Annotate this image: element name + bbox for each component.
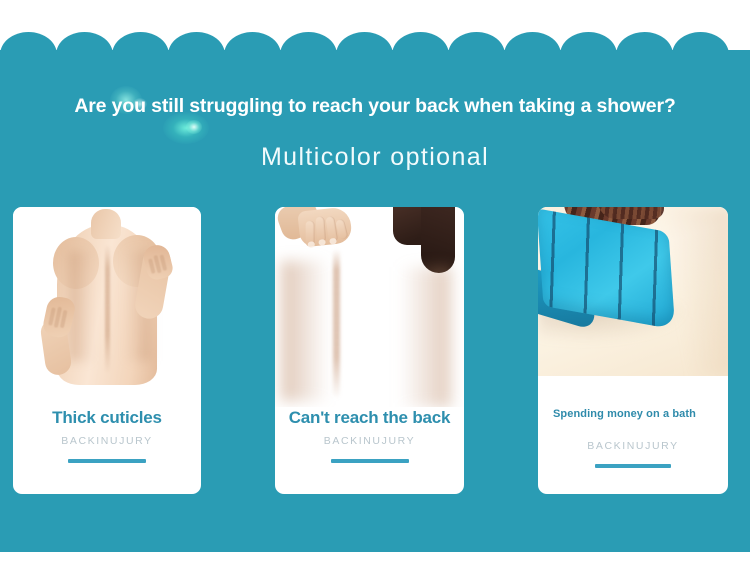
card-brand-label: BACKINUJURY bbox=[538, 440, 728, 452]
card-title: Spending money on a bath bbox=[538, 408, 728, 420]
fingernail-shape bbox=[318, 239, 326, 246]
subheadline-text: Multicolor optional bbox=[0, 143, 750, 172]
card-caption: Spending money on a bath BACKINUJURY bbox=[538, 402, 728, 494]
feature-card[interactable]: Thick cuticles BACKINUJURY bbox=[13, 207, 201, 494]
card-photo bbox=[275, 207, 464, 407]
card-underline-bar bbox=[331, 459, 409, 463]
body-shading-right bbox=[399, 267, 451, 407]
card-caption: Can't reach the back BACKINUJURY bbox=[275, 402, 464, 494]
hair-shape bbox=[421, 207, 455, 273]
feature-card[interactable]: Spending money on a bath BACKINUJURY bbox=[538, 207, 728, 494]
fingernail-shape bbox=[329, 238, 337, 245]
headline-text: Are you still struggling to reach your b… bbox=[0, 95, 750, 118]
card-title: Thick cuticles bbox=[13, 408, 201, 428]
hair-shape bbox=[598, 207, 664, 219]
spine-line bbox=[105, 245, 110, 373]
card-brand-label: BACKINUJURY bbox=[13, 435, 201, 447]
hand-over-shoulder-photo bbox=[275, 207, 464, 407]
body-shading-left bbox=[281, 261, 329, 401]
card-photo bbox=[538, 207, 728, 376]
spine-line bbox=[333, 249, 340, 399]
feature-card[interactable]: Can't reach the back BACKINUJURY bbox=[275, 207, 464, 494]
neck-shape bbox=[91, 209, 121, 239]
card-caption: Thick cuticles BACKINUJURY bbox=[13, 402, 201, 494]
card-brand-label: BACKINUJURY bbox=[275, 435, 464, 447]
bath-mitt-on-back-photo bbox=[538, 207, 728, 376]
back-arms-crossed-photo bbox=[13, 207, 201, 407]
card-title: Can't reach the back bbox=[275, 408, 464, 428]
finger-shape bbox=[60, 310, 68, 328]
card-underline-bar bbox=[68, 459, 146, 463]
card-photo bbox=[13, 207, 201, 407]
promo-banner: Are you still struggling to reach your b… bbox=[0, 0, 750, 577]
card-underline-bar bbox=[595, 464, 671, 468]
